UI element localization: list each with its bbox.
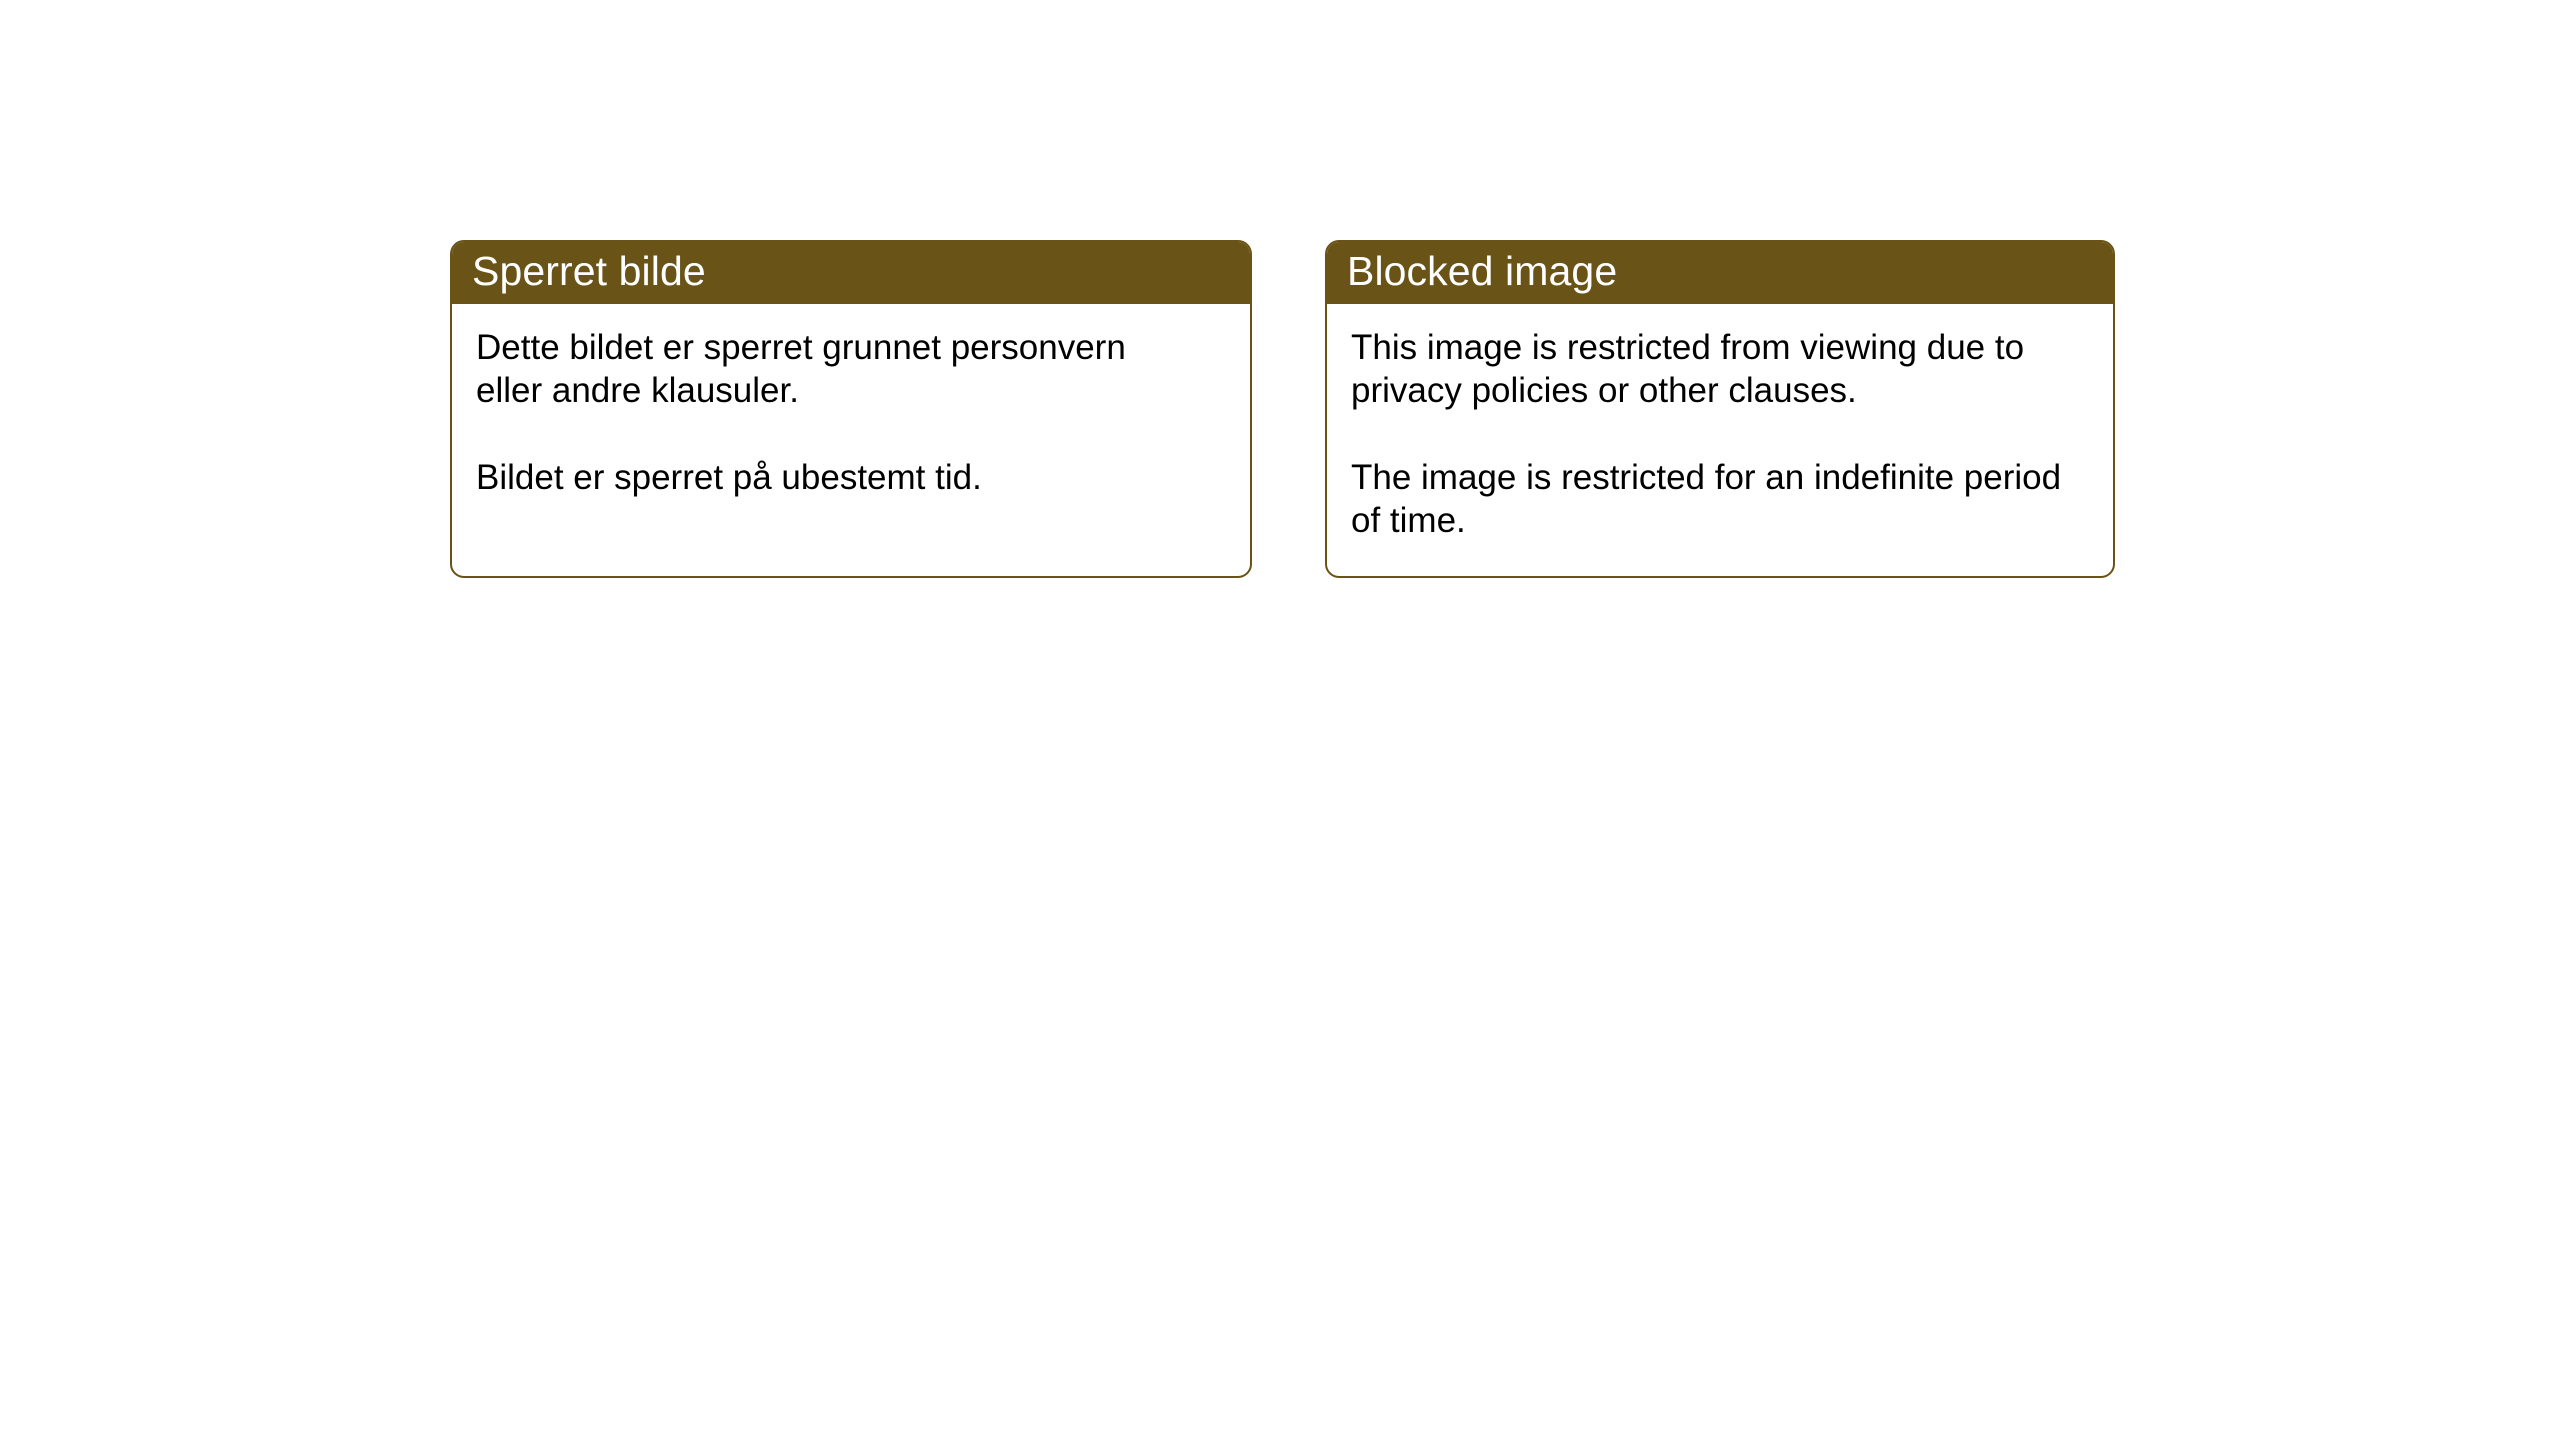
blocked-image-notices: Sperret bilde Dette bildet er sperret gr… (450, 240, 2115, 578)
card-paragraph-reason-english: This image is restricted from viewing du… (1351, 326, 2089, 412)
card-body-english: This image is restricted from viewing du… (1327, 304, 2113, 576)
card-paragraph-duration-norwegian: Bildet er sperret på ubestemt tid. (476, 456, 1226, 499)
card-title-english: Blocked image (1347, 251, 1617, 292)
card-paragraph-reason-norwegian: Dette bildet er sperret grunnet personve… (476, 326, 1226, 412)
card-body-norwegian: Dette bildet er sperret grunnet personve… (452, 304, 1250, 576)
blocked-image-card-english: Blocked image This image is restricted f… (1325, 240, 2115, 578)
card-header-norwegian: Sperret bilde (450, 240, 1252, 304)
card-header-english: Blocked image (1325, 240, 2115, 304)
card-title-norwegian: Sperret bilde (472, 251, 706, 292)
card-paragraph-duration-english: The image is restricted for an indefinit… (1351, 456, 2089, 542)
blocked-image-card-norwegian: Sperret bilde Dette bildet er sperret gr… (450, 240, 1252, 578)
